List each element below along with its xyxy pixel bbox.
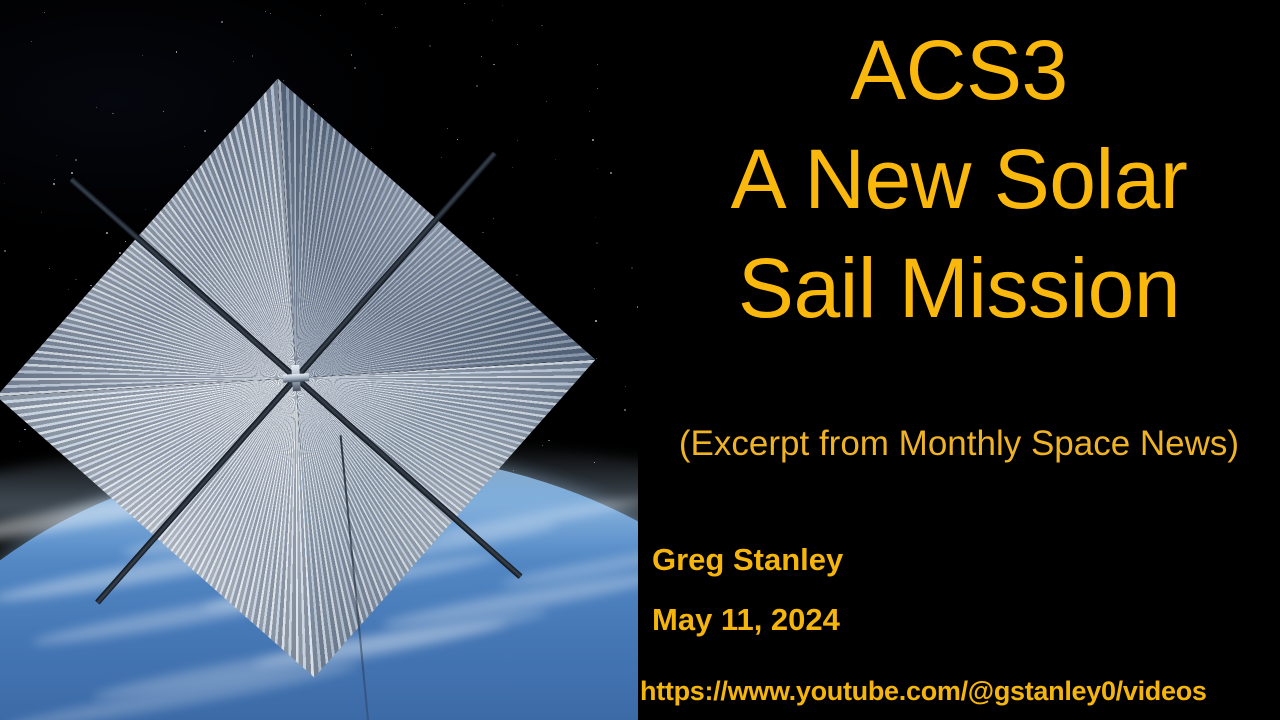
spacecraft-hub — [282, 364, 310, 392]
solar-sail-image — [0, 0, 638, 720]
star — [596, 358, 598, 360]
star — [541, 25, 543, 27]
star — [429, 45, 431, 47]
star — [492, 20, 493, 21]
title-line-1: ACS3 — [638, 16, 1280, 125]
presenter-name: Greg Stanley — [652, 542, 843, 578]
star — [381, 14, 382, 15]
star — [624, 409, 626, 411]
star — [592, 139, 594, 141]
star — [351, 54, 353, 56]
star — [625, 386, 626, 387]
title-slide: ACS3 A New Solar Sail Mission (Excerpt f… — [0, 0, 1280, 720]
star — [502, 5, 504, 7]
star — [597, 168, 598, 169]
star — [464, 3, 465, 4]
star — [595, 320, 597, 322]
star — [176, 51, 178, 53]
star — [365, 3, 366, 4]
star — [233, 61, 234, 62]
star — [594, 288, 595, 289]
title-line-3: Sail Mission — [638, 234, 1280, 343]
star — [354, 67, 356, 69]
star — [610, 172, 612, 174]
star — [221, 21, 223, 23]
star — [270, 13, 271, 14]
star — [31, 41, 32, 42]
title-line-2: A New Solar — [638, 125, 1280, 234]
star — [320, 15, 321, 16]
star — [142, 55, 144, 57]
star — [589, 111, 590, 112]
star — [631, 267, 633, 269]
sail-quadrant-top-left — [0, 79, 296, 397]
star — [517, 44, 518, 45]
star — [597, 88, 598, 89]
star — [395, 27, 396, 28]
subtitle: (Excerpt from Monthly Space News) — [638, 424, 1280, 464]
star — [597, 64, 598, 65]
youtube-channel-link[interactable]: https://www.youtube.com/@gstanley0/video… — [640, 676, 1207, 707]
star — [252, 55, 254, 57]
star — [44, 12, 45, 13]
presentation-date: May 11, 2024 — [652, 602, 840, 638]
page-title: ACS3 A New Solar Sail Mission — [638, 16, 1280, 344]
star — [596, 242, 598, 244]
text-panel: ACS3 A New Solar Sail Mission (Excerpt f… — [638, 0, 1280, 720]
star — [265, 11, 266, 12]
star — [595, 217, 596, 218]
star — [481, 56, 482, 57]
